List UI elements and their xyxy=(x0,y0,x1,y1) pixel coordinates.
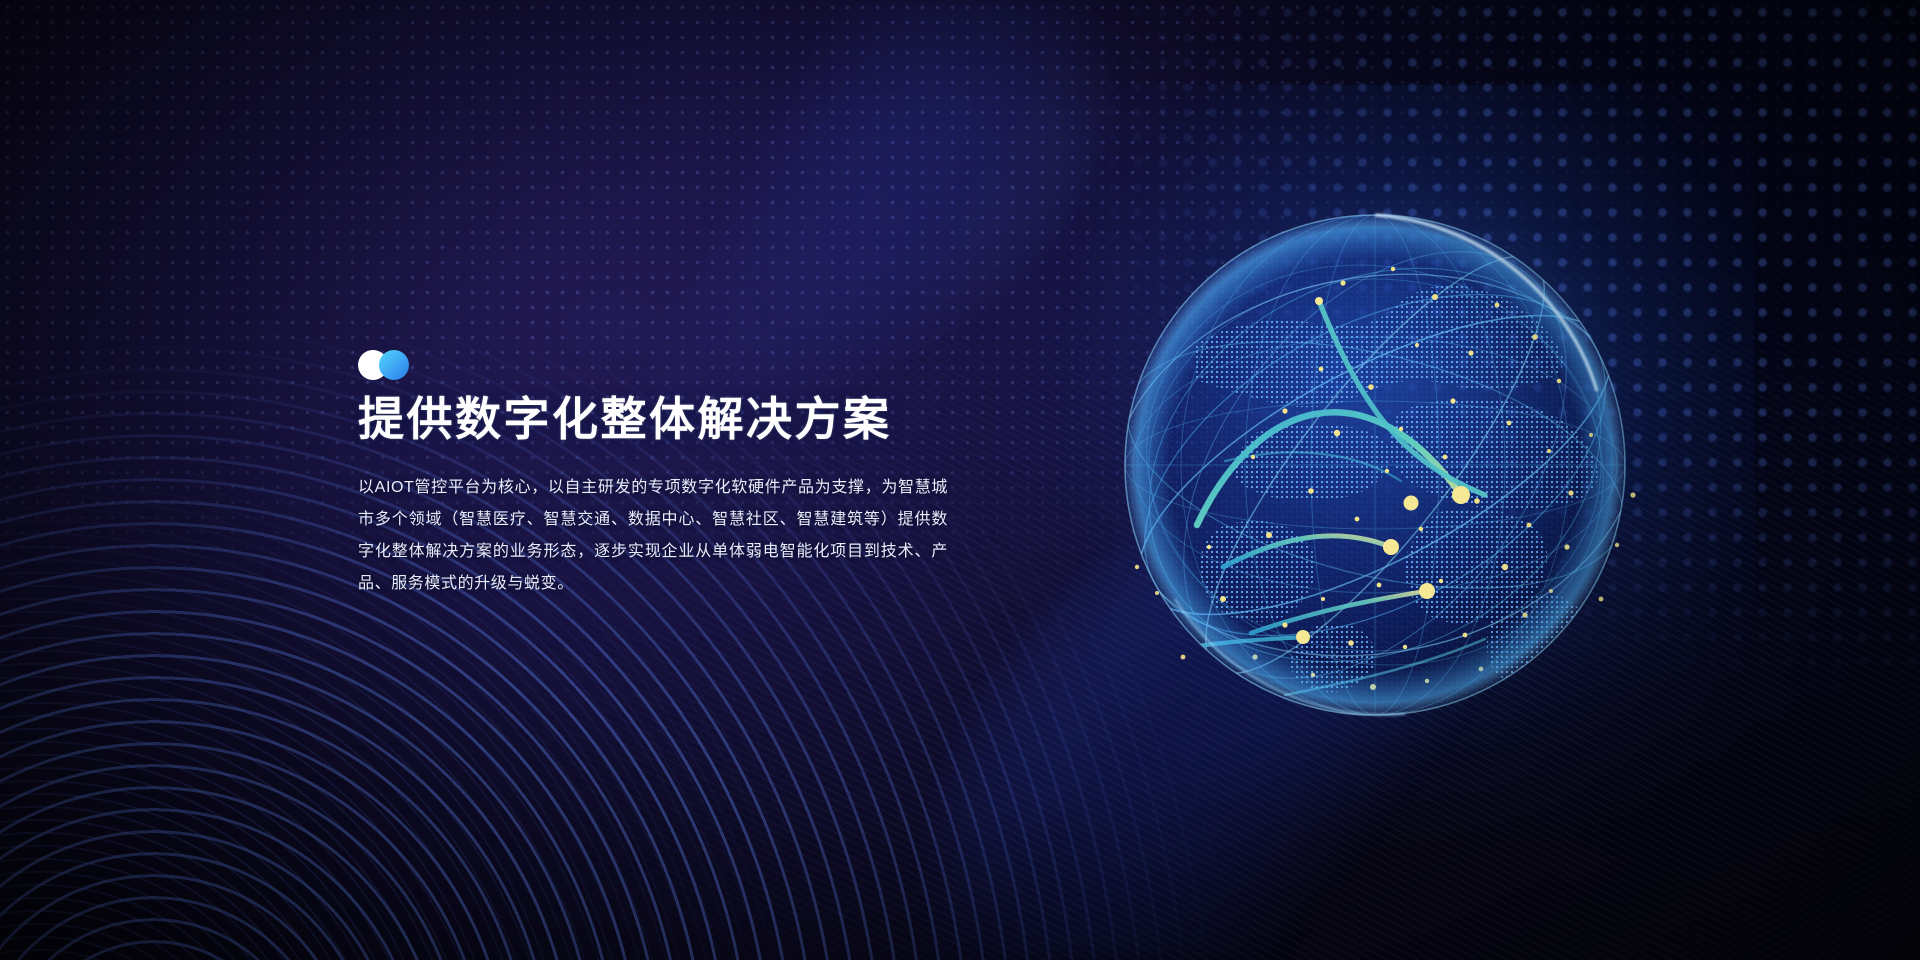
blue-gradient-dot-icon xyxy=(379,350,409,380)
hero-description: 以AIOT管控平台为核心，以自主研发的专项数字化软硬件产品为支撑，为智慧城市多个… xyxy=(358,472,948,600)
globe-illustration xyxy=(1105,195,1645,735)
page-title: 提供数字化整体解决方案 xyxy=(358,394,948,446)
hero-content: 提供数字化整体解决方案 以AIOT管控平台为核心，以自主研发的专项数字化软硬件产… xyxy=(358,350,948,600)
digital-earth-globe xyxy=(1105,195,1645,735)
hero-banner: 提供数字化整体解决方案 以AIOT管控平台为核心，以自主研发的专项数字化软硬件产… xyxy=(0,0,1920,960)
decorative-dots xyxy=(358,350,422,380)
